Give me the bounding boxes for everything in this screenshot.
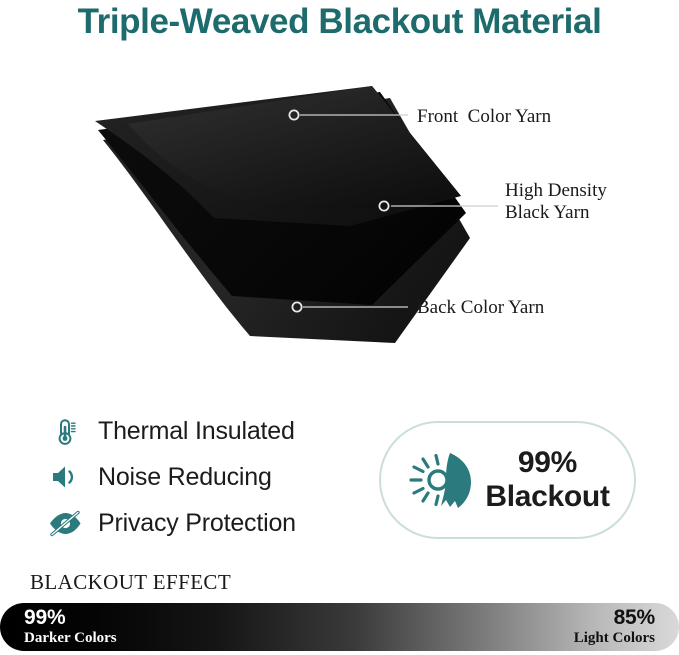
effect-right-percent: 85% [614,607,655,629]
callout-label-high-density: High Density Black Yarn [505,180,607,225]
feature-label: Noise Reducing [86,463,272,492]
front-color-yarn-sheet [95,86,461,226]
page-title: Triple-Weaved Blackout Material [0,2,679,42]
feature-label: Privacy Protection [86,509,296,538]
callout-label-front: Front Color Yarn [417,106,551,128]
effect-right-caption: Light Colors [574,629,655,647]
effect-left-percent: 99% [24,607,65,629]
callout-label-back: Back Color Yarn [417,297,544,319]
blackout-percent: 99% [518,446,577,479]
speaker-sound-icon [44,462,86,492]
feature-list: Thermal Insulated Noise Reducing Privacy… [44,408,374,546]
triple-layer-fabric-diagram: Front Color Yarn High Density Black Yarn… [0,78,679,348]
feature-item-privacy-protection: Privacy Protection [44,500,374,546]
blackout-badge-text: 99% Blackout [485,446,615,513]
eye-slash-icon [44,509,86,537]
feature-item-noise-reducing: Noise Reducing [44,454,374,500]
effect-left-caption: Darker Colors [24,629,117,647]
effect-bar-left-value: 99% Darker Colors [24,603,117,651]
blackout-caption: Blackout [485,480,609,513]
feature-item-thermal-insulated: Thermal Insulated [44,408,374,454]
feature-label: Thermal Insulated [86,417,295,446]
blackout-effect-heading: BLACKOUT EFFECT [30,570,231,595]
blackout-badge: 99% Blackout [379,421,636,539]
thermometer-icon [44,415,86,447]
effect-bar-right-value: 85% Light Colors [574,603,655,651]
sun-behind-curtain-icon [399,444,485,516]
